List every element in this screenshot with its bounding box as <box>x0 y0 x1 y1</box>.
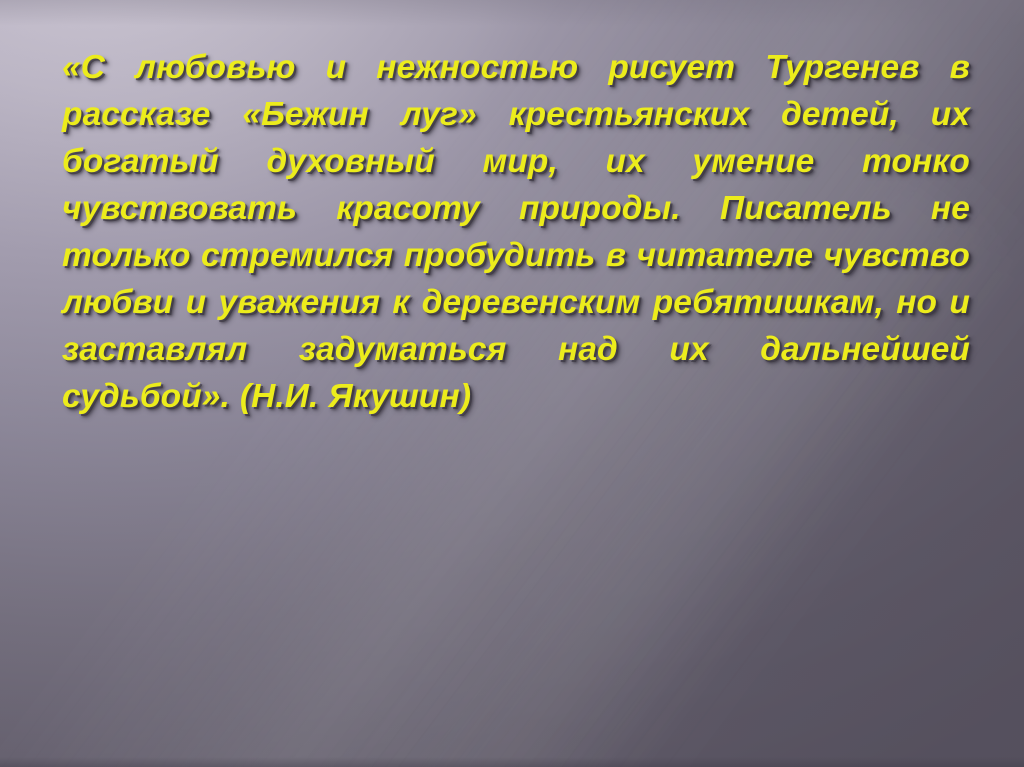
quote-textbox: «С любовью и нежностью рисует Тургенев в… <box>62 44 970 420</box>
quote-text: «С любовью и нежностью рисует Тургенев в… <box>62 44 970 420</box>
presentation-slide: «С любовью и нежностью рисует Тургенев в… <box>0 0 1024 767</box>
